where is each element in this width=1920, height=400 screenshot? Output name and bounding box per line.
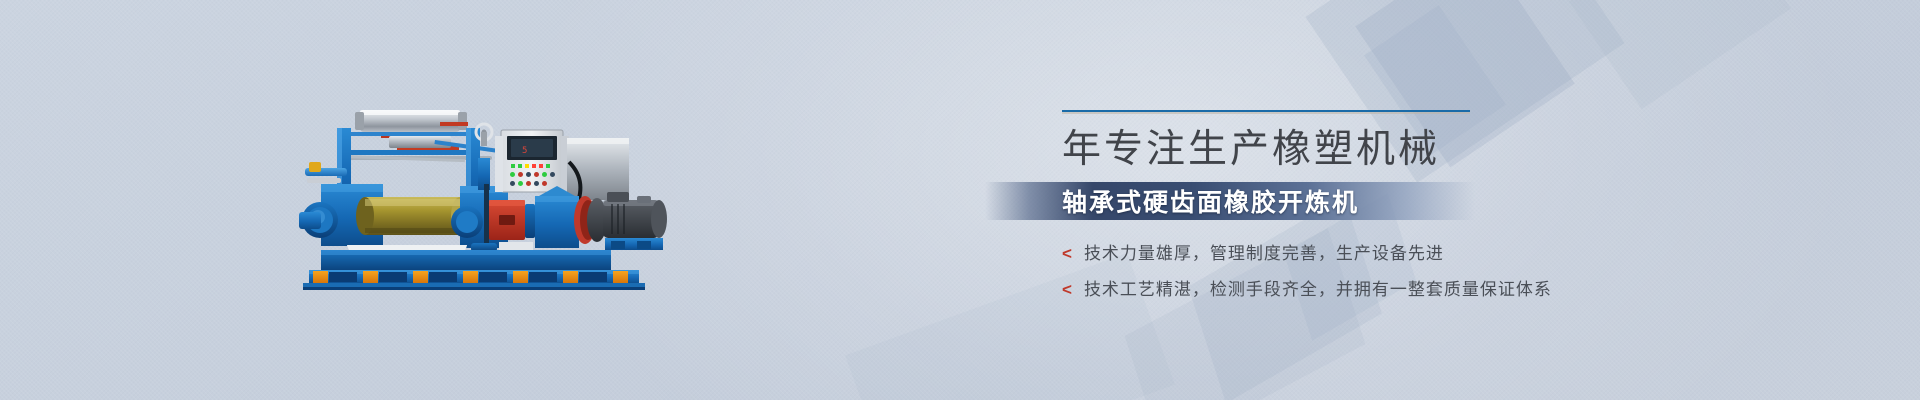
page-title: 年专注生产橡塑机械: [1062, 128, 1582, 172]
list-item: < 技术力量雄厚，管理制度完善，生产设备先进: [1062, 244, 1622, 264]
subtitle-text: 轴承式硬齿面橡胶开炼机: [1062, 183, 1359, 219]
list-item: < 技术工艺精湛，检测手段齐全，并拥有一整套质量保证体系: [1062, 280, 1622, 300]
chevron-left-icon: <: [1062, 245, 1072, 262]
svg-text:5: 5: [522, 146, 527, 156]
feature-list: < 技术力量雄厚，管理制度完善，生产设备先进 < 技术工艺精湛，检测手段齐全，并…: [1062, 244, 1622, 317]
product-photo-rubber-mixing-mill: 5: [285, 100, 693, 295]
promo-banner: 5: [0, 0, 1920, 400]
list-item-label: 技术力量雄厚，管理制度完善，生产设备先进: [1084, 244, 1444, 264]
headline-block: 年专注生产橡塑机械: [1062, 110, 1582, 180]
list-item-label: 技术工艺精湛，检测手段齐全，并拥有一整套质量保证体系: [1084, 280, 1552, 300]
headline-rule: [1062, 110, 1470, 112]
subtitle-bar: 轴承式硬齿面橡胶开炼机: [985, 182, 1475, 220]
decor-shape-top-right-4: [1569, 0, 1791, 109]
chevron-left-icon: <: [1062, 281, 1072, 298]
